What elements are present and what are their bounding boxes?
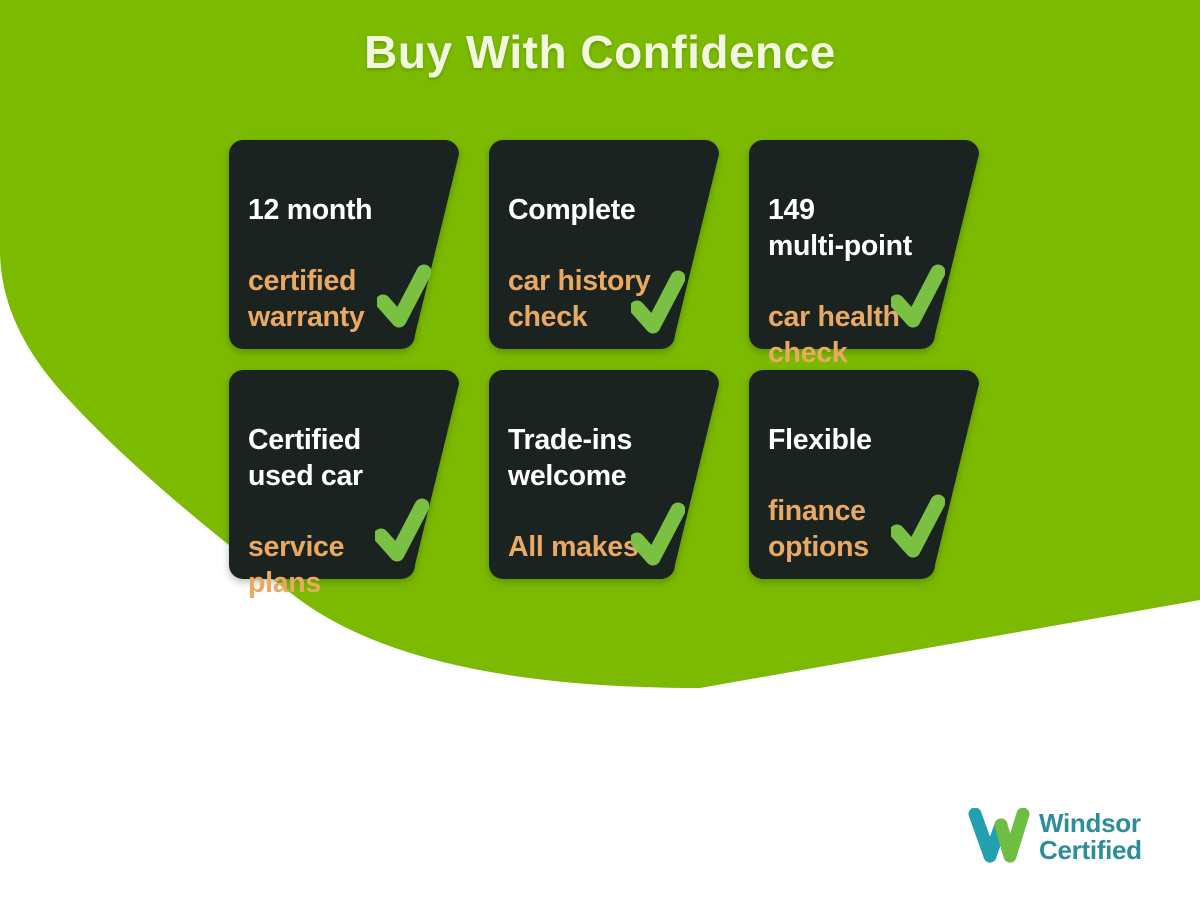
- check-mark-icon: [375, 498, 429, 564]
- card-text-block: Complete car history check: [508, 157, 697, 372]
- logo-line-certified: Certified: [1039, 837, 1142, 864]
- feature-card-flexible-finance-options[interactable]: Flexible finance options: [749, 370, 979, 579]
- check-mark-icon: [377, 264, 431, 330]
- poster-canvas: Buy With Confidence 12 month certified w…: [0, 0, 1200, 900]
- check-mark-icon: [631, 502, 685, 568]
- card-headline-white: Flexible: [768, 423, 957, 459]
- card-headline-white: 12 month: [248, 193, 437, 229]
- card-text-block: Trade-ins welcome All makes: [508, 387, 697, 602]
- feature-card-grid: 12 month certified warranty Complete car…: [229, 140, 979, 600]
- logo-line-windsor: Windsor: [1039, 810, 1142, 837]
- check-mark-icon: [631, 270, 685, 336]
- feature-card-row-bottom: Certified used car service plans Trade-i…: [229, 370, 979, 579]
- feature-card-row-top: 12 month certified warranty Complete car…: [229, 140, 979, 349]
- feature-card-used-car-service-plans[interactable]: Certified used car service plans: [229, 370, 459, 579]
- check-mark-icon: [891, 494, 945, 560]
- card-headline-white: 149 multi-point: [768, 193, 957, 265]
- card-headline-white: Trade-ins welcome: [508, 423, 697, 495]
- check-mark-icon: [891, 264, 945, 330]
- logo-wordmark: Windsor Certified: [1039, 810, 1142, 864]
- page-title: Buy With Confidence: [0, 26, 1200, 79]
- windsor-certified-logo[interactable]: Windsor Certified: [968, 808, 1142, 866]
- feature-card-certified-warranty[interactable]: 12 month certified warranty: [229, 140, 459, 349]
- windsor-w-mark-icon: [968, 808, 1030, 866]
- feature-card-trade-ins-welcome[interactable]: Trade-ins welcome All makes: [489, 370, 719, 579]
- feature-card-multi-point-health-check[interactable]: 149 multi-point car health check: [749, 140, 979, 349]
- card-headline-white: Complete: [508, 193, 697, 229]
- feature-card-car-history-check[interactable]: Complete car history check: [489, 140, 719, 349]
- card-headline-white: Certified used car: [248, 423, 437, 495]
